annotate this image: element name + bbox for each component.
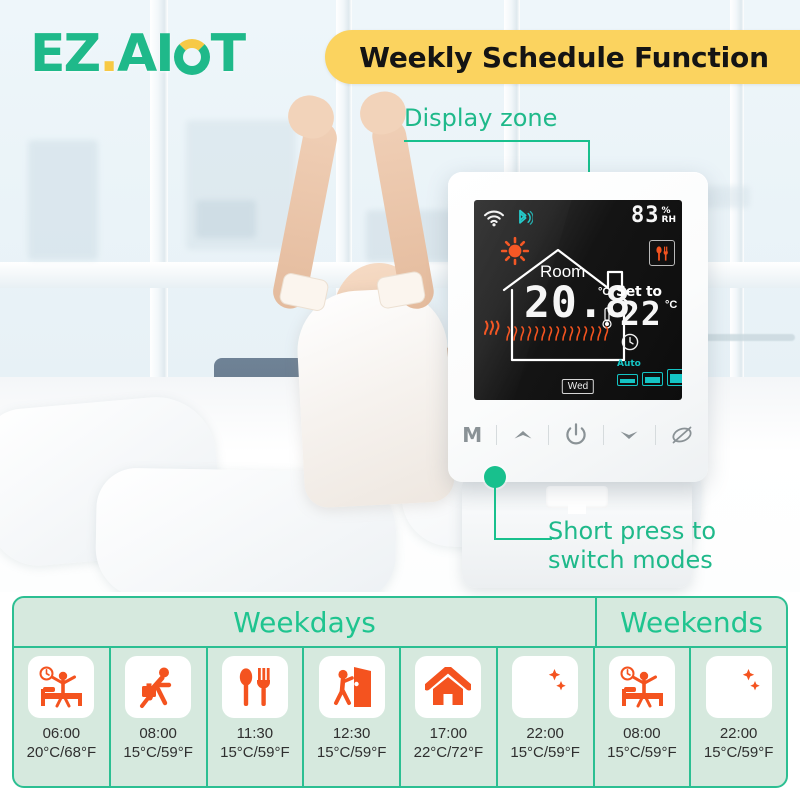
button-divider <box>603 425 604 445</box>
schedule-slot-weekday-6[interactable]: 22:00 15°C/59°F <box>498 648 595 788</box>
callout-mode-line-v <box>494 476 496 540</box>
slot-time: 17:00 <box>430 725 468 744</box>
thermostat-device: Room 20.8 °C <box>448 172 708 482</box>
slot-time: 08:00 <box>139 725 177 744</box>
callout-mode-label-line2: switch modes <box>548 548 713 573</box>
lunch-icon <box>222 656 288 718</box>
schedule-slot-weekday-4[interactable]: 12:30 15°C/59°F <box>304 648 401 788</box>
clock-icon <box>621 333 639 351</box>
wake-up-icon <box>28 656 94 718</box>
slot-time: 08:00 <box>623 725 661 744</box>
floor-heating-icon <box>504 326 614 342</box>
leave-home-icon <box>319 656 385 718</box>
sleep-icon <box>706 656 772 718</box>
schedule-slot-weekend-2[interactable]: 22:00 15°C/59°F <box>691 648 786 788</box>
thermostat-lcd-screen: Room 20.8 °C <box>474 200 682 400</box>
schedule-slot-weekend-1[interactable]: 08:00 15°C/59°F <box>595 648 692 788</box>
schedule-slot-weekday-1[interactable]: 06:00 20°C/68°F <box>14 648 111 788</box>
brand-logo: EZ.AIT <box>30 28 244 80</box>
banner-title: Weekly Schedule Function <box>359 41 769 74</box>
button-divider <box>548 425 549 445</box>
banner-title-bar: Weekly Schedule Function <box>325 30 800 84</box>
callout-mode-label-line1: Short press to <box>548 519 716 544</box>
set-temperature-unit: °C <box>665 299 677 311</box>
weekly-schedule-table: Weekdays Weekends <box>12 596 788 788</box>
logo-dot: . <box>99 24 117 84</box>
callout-display-zone-line-h <box>404 140 590 142</box>
heating-waves-icon <box>481 318 501 338</box>
slot-temperature: 20°C/68°F <box>27 744 97 763</box>
logo-text-3: T <box>211 24 244 84</box>
wifi-icon <box>483 209 505 227</box>
mount-notch <box>546 486 608 508</box>
slot-time: 12:30 <box>333 725 371 744</box>
logo-o-icon <box>174 39 210 75</box>
schedule-slot-weekday-3[interactable]: 11:30 15°C/59°F <box>208 648 305 788</box>
set-temperature-value: 22 <box>620 297 662 330</box>
thermostat-button-row: M <box>448 412 708 458</box>
room-temperature-unit: °C <box>598 286 610 298</box>
humidity-value: 83 <box>631 206 660 227</box>
sleep-icon <box>512 656 578 718</box>
schedule-slot-weekday-5[interactable]: 17:00 22°C/72°F <box>401 648 498 788</box>
slot-time: 22:00 <box>526 725 564 744</box>
slot-time: 22:00 <box>720 725 758 744</box>
slot-time: 06:00 <box>43 725 81 744</box>
weekends-header: Weekends <box>597 598 786 646</box>
slot-temperature: 15°C/59°F <box>317 744 387 763</box>
humidity-readout: 83 % RH <box>631 206 676 227</box>
leaf-eco-icon[interactable] <box>670 424 694 446</box>
fork-spoon-icon <box>649 240 675 266</box>
logo-text: EZ <box>30 24 99 84</box>
weekdays-header: Weekdays <box>14 598 597 646</box>
auto-mode-label: Auto <box>617 359 641 369</box>
slot-temperature: 15°C/59°F <box>220 744 290 763</box>
logo-text-2: AI <box>117 24 173 84</box>
slot-temperature: 22°C/72°F <box>414 744 484 763</box>
humidity-rh-unit: RH <box>662 216 676 225</box>
schedule-body-row: 06:00 20°C/68°F 08:00 1 <box>14 648 786 788</box>
callout-display-zone-label: Display zone <box>404 106 557 131</box>
chevron-up-icon[interactable] <box>512 427 534 443</box>
wake-up-icon <box>609 656 675 718</box>
button-divider <box>496 425 497 445</box>
period-bar-3 <box>667 369 682 386</box>
button-divider <box>655 425 656 445</box>
slot-temperature: 15°C/59°F <box>510 744 580 763</box>
bluetooth-icon <box>513 208 533 228</box>
return-home-icon <box>415 656 481 718</box>
mode-button[interactable]: M <box>462 423 482 447</box>
page-root: EZ.AIT Weekly Schedule Function Display … <box>0 0 800 800</box>
power-icon[interactable] <box>563 422 589 448</box>
chevron-down-icon[interactable] <box>618 427 640 443</box>
schedule-header-row: Weekdays Weekends <box>14 598 786 648</box>
slot-temperature: 15°C/59°F <box>123 744 193 763</box>
callout-mode-line-h <box>494 538 552 540</box>
schedule-period-bars <box>617 369 682 386</box>
day-of-week-badge: Wed <box>562 379 594 394</box>
period-bar-2 <box>642 372 663 386</box>
leave-work-icon <box>125 656 191 718</box>
slot-time: 11:30 <box>237 725 273 744</box>
schedule-slot-weekday-2[interactable]: 08:00 15°C/59°F <box>111 648 208 788</box>
slot-temperature: 15°C/59°F <box>704 744 774 763</box>
period-bar-1 <box>617 374 638 386</box>
slot-temperature: 15°C/59°F <box>607 744 677 763</box>
